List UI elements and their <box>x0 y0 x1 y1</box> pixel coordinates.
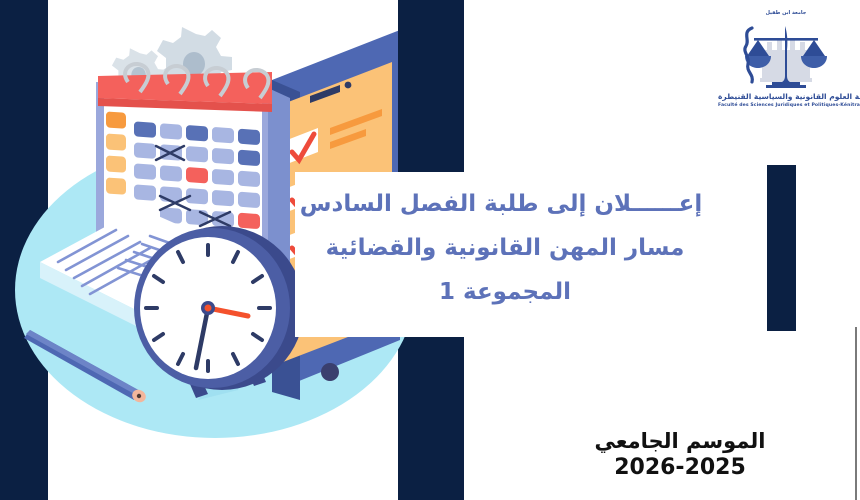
logo-university-name: جامعة ابن طفيل <box>718 10 854 16</box>
academic-season-block: الموسم الجامعي 2026-2025 <box>560 428 800 482</box>
right-vertical-rule <box>855 327 857 500</box>
right-navy-accent-bar <box>767 165 796 331</box>
logo-faculty-name-fr: Faculté des Sciences Juridiques et Polit… <box>718 103 854 108</box>
headline-line-1: إعــــــلان إلى طلبة الفصل السادس <box>295 182 715 226</box>
announcement-poster: إعــــــلان إلى طلبة الفصل السادس مسار ا… <box>0 0 860 500</box>
logo-faculty-name-ar: كلية العلوم القانونية والسياسية القنيطرة <box>718 92 854 101</box>
headline-line-2: مسار المهن القانونية والقضائية <box>295 226 715 270</box>
university-logo: جامعة ابن طفيل <box>718 4 854 122</box>
headline-text-block: إعــــــلان إلى طلبة الفصل السادس مسار ا… <box>295 172 715 337</box>
center-navy-bar-top-overlay <box>398 0 464 172</box>
headline-line-3: المجموعة 1 <box>295 270 715 314</box>
season-years: 2026-2025 <box>560 454 800 482</box>
headline-card: إعــــــلان إلى طلبة الفصل السادس مسار ا… <box>295 172 715 337</box>
scales-of-justice-icon <box>736 18 836 94</box>
season-label: الموسم الجامعي <box>560 428 800 454</box>
